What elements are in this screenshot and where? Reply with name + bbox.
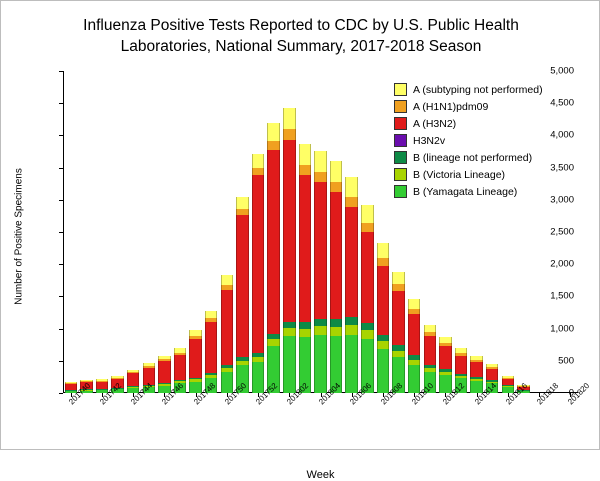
bar-201810 xyxy=(408,299,420,393)
bar-segment xyxy=(455,353,467,356)
bar-segment xyxy=(299,329,311,337)
bar-segment xyxy=(267,334,279,339)
bar-segment xyxy=(158,359,170,361)
bar-segment xyxy=(377,335,389,341)
bar-segment xyxy=(158,361,170,383)
bar-segment xyxy=(486,364,498,367)
bar-segment xyxy=(361,232,373,323)
bar-segment xyxy=(205,373,217,375)
bar-segment xyxy=(424,332,436,336)
bar-segment xyxy=(314,326,326,335)
bar-segment xyxy=(424,368,436,372)
y-tick-label: 4,500 xyxy=(550,98,574,109)
bar-segment xyxy=(236,361,248,366)
bar-segment xyxy=(299,175,311,322)
bar-segment xyxy=(189,330,201,336)
bar-segment xyxy=(236,357,248,361)
bar-segment xyxy=(174,348,186,353)
bar-segment xyxy=(221,290,233,365)
bar-segment xyxy=(252,353,264,357)
bar-segment xyxy=(143,366,155,368)
bar-segment xyxy=(408,309,420,314)
y-tick-mark xyxy=(59,296,63,297)
legend-label: A (H3N2) xyxy=(413,118,456,130)
bar-segment xyxy=(377,266,389,335)
y-tick-mark xyxy=(59,168,63,169)
bar-segment xyxy=(267,141,279,150)
bar-segment xyxy=(330,161,342,182)
bar-segment xyxy=(158,383,170,384)
bar-201748 xyxy=(189,330,201,393)
bar-201812 xyxy=(439,337,451,393)
bar-segment xyxy=(345,325,357,335)
y-tick-label: 1,000 xyxy=(550,323,574,334)
legend-label: A (H1N1)pdm09 xyxy=(413,101,488,113)
bar-segment xyxy=(65,384,77,390)
bar-segment xyxy=(96,389,108,390)
bar-201752 xyxy=(252,154,264,393)
bar-segment xyxy=(283,328,295,336)
bar-segment xyxy=(392,345,404,350)
legend-swatch-icon xyxy=(394,185,407,198)
bar-segment xyxy=(392,291,404,346)
legend-item-3: H3N2v xyxy=(394,132,543,149)
bar-segment xyxy=(455,376,467,379)
bar-201804 xyxy=(314,151,326,393)
legend-swatch-icon xyxy=(394,83,407,96)
bar-segment xyxy=(127,387,139,388)
legend-label: B (Victoria Lineage) xyxy=(413,169,505,181)
bar-segment xyxy=(470,377,482,379)
x-axis-label: Week xyxy=(63,469,578,481)
bar-segment xyxy=(361,323,373,330)
bar-segment xyxy=(189,336,201,339)
bar-segment xyxy=(424,336,436,364)
bar-segment xyxy=(439,346,451,369)
bar-segment xyxy=(205,311,217,318)
bar-segment xyxy=(96,379,108,380)
bar-segment xyxy=(330,192,342,319)
bar-segment xyxy=(408,355,420,359)
legend-item-6: B (Yamagata Lineage) xyxy=(394,183,543,200)
bar-segment xyxy=(470,379,482,381)
bar-segment xyxy=(455,356,467,374)
bar-segment xyxy=(314,182,326,319)
bar-segment xyxy=(439,343,451,346)
y-tick-label: 3,500 xyxy=(550,162,574,173)
bar-201808 xyxy=(377,243,389,393)
bar-segment xyxy=(392,284,404,290)
bar-segment xyxy=(283,129,295,139)
bar-segment xyxy=(65,383,77,384)
bar-segment xyxy=(345,207,357,318)
influenza-chart: Influenza Positive Tests Reported to CDC… xyxy=(0,0,600,450)
chart-title-line-1: Influenza Positive Tests Reported to CDC… xyxy=(1,15,600,36)
bar-segment xyxy=(424,365,436,368)
bar-segment xyxy=(299,144,311,165)
bar-segment xyxy=(189,339,201,378)
bar-segment xyxy=(252,175,264,353)
bar-segment xyxy=(330,327,342,337)
bar-segment xyxy=(455,374,467,376)
bar-segment xyxy=(408,314,420,355)
y-tick-mark xyxy=(59,329,63,330)
bar-segment xyxy=(502,379,514,385)
bar-segment xyxy=(345,335,357,393)
bar-segment xyxy=(439,372,451,375)
bar-segment xyxy=(330,182,342,192)
legend-label: B (lineage not performed) xyxy=(413,152,532,164)
bar-segment xyxy=(236,209,248,215)
y-tick-label: 2,500 xyxy=(550,227,574,238)
bar-segment xyxy=(127,370,139,372)
y-tick-label: 500 xyxy=(558,355,574,366)
bar-segment xyxy=(65,382,77,383)
bar-segment xyxy=(408,299,420,309)
chart-title-line-2: Laboratories, National Summary, 2017-201… xyxy=(1,36,600,57)
bar-segment xyxy=(392,272,404,285)
bar-201814 xyxy=(470,356,482,393)
bar-segment xyxy=(267,339,279,346)
bar-segment xyxy=(345,317,357,325)
bar-segment xyxy=(486,367,498,369)
bar-201751 xyxy=(236,197,248,393)
legend-swatch-icon xyxy=(394,100,407,113)
bar-segment xyxy=(361,223,373,232)
bar-segment xyxy=(221,368,233,372)
bar-201805 xyxy=(330,161,342,393)
bar-segment xyxy=(221,275,233,285)
bar-201807 xyxy=(361,205,373,393)
bar-segment xyxy=(236,215,248,357)
bar-segment xyxy=(127,386,139,387)
bar-segment xyxy=(283,140,295,322)
legend-swatch-icon xyxy=(394,168,407,181)
bar-segment xyxy=(174,355,186,380)
bar-segment xyxy=(314,151,326,172)
y-tick-mark xyxy=(59,200,63,201)
bar-segment xyxy=(111,378,123,379)
bar-segment xyxy=(424,325,436,332)
bar-segment xyxy=(299,165,311,175)
bar-segment xyxy=(455,348,467,353)
bar-201802 xyxy=(283,108,295,393)
bar-201746 xyxy=(158,356,170,393)
bar-segment xyxy=(236,197,248,209)
bar-segment xyxy=(252,154,264,168)
bar-segment xyxy=(439,369,451,372)
bar-segment xyxy=(502,386,514,387)
bar-segment xyxy=(502,378,514,379)
chart-title: Influenza Positive Tests Reported to CDC… xyxy=(1,15,600,57)
y-tick-label: 5,000 xyxy=(550,66,574,77)
bar-segment xyxy=(158,384,170,386)
bar-segment xyxy=(111,376,123,378)
bar-segment xyxy=(252,362,264,393)
bar-segment xyxy=(221,285,233,290)
bar-segment xyxy=(314,335,326,393)
bar-segment xyxy=(96,381,108,382)
bar-segment xyxy=(283,336,295,393)
y-tick-mark xyxy=(59,103,63,104)
bar-segment xyxy=(377,349,389,393)
bar-segment xyxy=(205,318,217,322)
bar-segment xyxy=(361,205,373,223)
bar-segment xyxy=(283,108,295,129)
legend-item-1: A (H1N1)pdm09 xyxy=(394,98,543,115)
bar-segment xyxy=(361,330,373,339)
bar-segment xyxy=(127,373,139,386)
legend-swatch-icon xyxy=(394,134,407,147)
bar-segment xyxy=(299,322,311,328)
bar-201809 xyxy=(392,272,404,393)
y-tick-mark xyxy=(59,232,63,233)
bar-segment xyxy=(377,243,389,258)
bar-segment xyxy=(189,379,201,381)
bar-segment xyxy=(314,172,326,182)
legend-item-5: B (Victoria Lineage) xyxy=(394,166,543,183)
legend-item-4: B (lineage not performed) xyxy=(394,149,543,166)
bar-segment xyxy=(502,385,514,386)
bar-201750 xyxy=(221,275,233,393)
bar-segment xyxy=(252,357,264,362)
legend-swatch-icon xyxy=(394,151,407,164)
bar-segment xyxy=(127,372,139,373)
y-tick-label: 3,000 xyxy=(550,194,574,205)
bar-segment xyxy=(345,197,357,207)
legend-label: B (Yamagata Lineage) xyxy=(413,186,517,198)
bar-segment xyxy=(345,177,357,197)
x-axis-ticks: 2017402017422017442017462017482017502017… xyxy=(63,393,578,463)
bar-segment xyxy=(252,168,264,175)
y-tick-label: 1,500 xyxy=(550,291,574,302)
y-tick-mark xyxy=(59,71,63,72)
legend-item-2: A (H3N2) xyxy=(394,115,543,132)
y-tick-label: 2,000 xyxy=(550,259,574,270)
chart-legend: A (subtyping not performed)A (H1N1)pdm09… xyxy=(394,81,543,200)
bar-segment xyxy=(205,322,217,373)
bar-segment xyxy=(330,319,342,326)
y-tick-mark xyxy=(59,361,63,362)
bar-201803 xyxy=(299,144,311,393)
bar-segment xyxy=(158,356,170,360)
bar-segment xyxy=(267,150,279,334)
bar-segment xyxy=(408,360,420,365)
bar-segment xyxy=(221,365,233,368)
legend-swatch-icon xyxy=(394,117,407,130)
bar-segment xyxy=(283,322,295,328)
bar-segment xyxy=(143,363,155,366)
bar-segment xyxy=(502,376,514,378)
bar-segment xyxy=(392,351,404,357)
bar-segment xyxy=(377,258,389,266)
y-axis-label: Number of Positive Specimens xyxy=(14,127,25,347)
y-tick-label: 4,000 xyxy=(550,130,574,141)
legend-label: H3N2v xyxy=(413,135,445,147)
bar-segment xyxy=(470,362,482,377)
bar-201801 xyxy=(267,123,279,393)
bar-segment xyxy=(314,319,326,326)
bar-201806 xyxy=(345,177,357,393)
bar-segment xyxy=(486,369,498,381)
legend-label: A (subtyping not performed) xyxy=(413,84,543,96)
bar-segment xyxy=(205,375,217,378)
bar-segment xyxy=(377,341,389,349)
bar-segment xyxy=(96,381,108,388)
y-tick-mark xyxy=(59,264,63,265)
bar-segment xyxy=(470,356,482,360)
bar-segment xyxy=(267,123,279,141)
legend-item-0: A (subtyping not performed) xyxy=(394,81,543,98)
bar-segment xyxy=(189,378,201,380)
bar-segment xyxy=(470,360,482,362)
bar-segment xyxy=(174,353,186,355)
bar-segment xyxy=(408,365,420,393)
y-tick-mark xyxy=(59,135,63,136)
bar-segment xyxy=(439,337,451,343)
